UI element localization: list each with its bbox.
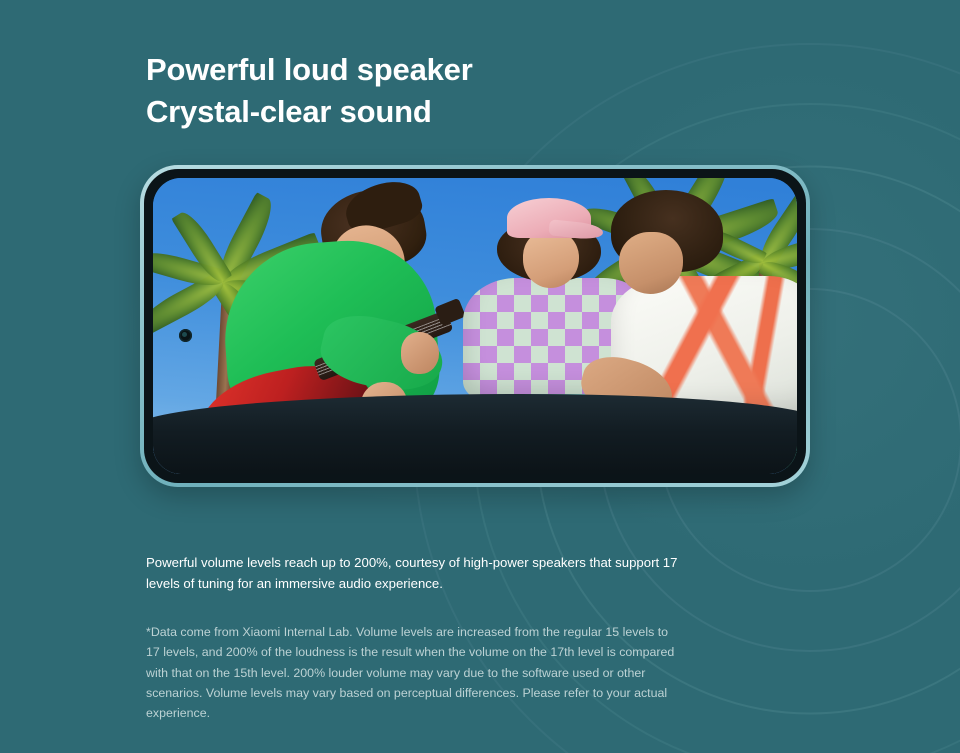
hand xyxy=(401,332,439,374)
vehicle-roof xyxy=(153,394,797,474)
phone-screen xyxy=(153,178,797,474)
disclaimer-text: *Data come from Xiaomi Internal Lab. Vol… xyxy=(146,622,681,722)
phone-device xyxy=(140,165,810,487)
punch-hole-camera-icon xyxy=(179,329,192,342)
face xyxy=(619,232,683,294)
promo-banner: Powerful loud speaker Crystal-clear soun… xyxy=(0,0,960,753)
phone-bezel xyxy=(144,169,806,483)
feature-description: Powerful volume levels reach up to 200%,… xyxy=(146,553,686,594)
phone-frame xyxy=(140,165,810,487)
face xyxy=(523,230,579,288)
screen-photo xyxy=(153,178,797,474)
page-title: Powerful loud speaker Crystal-clear soun… xyxy=(146,49,473,133)
